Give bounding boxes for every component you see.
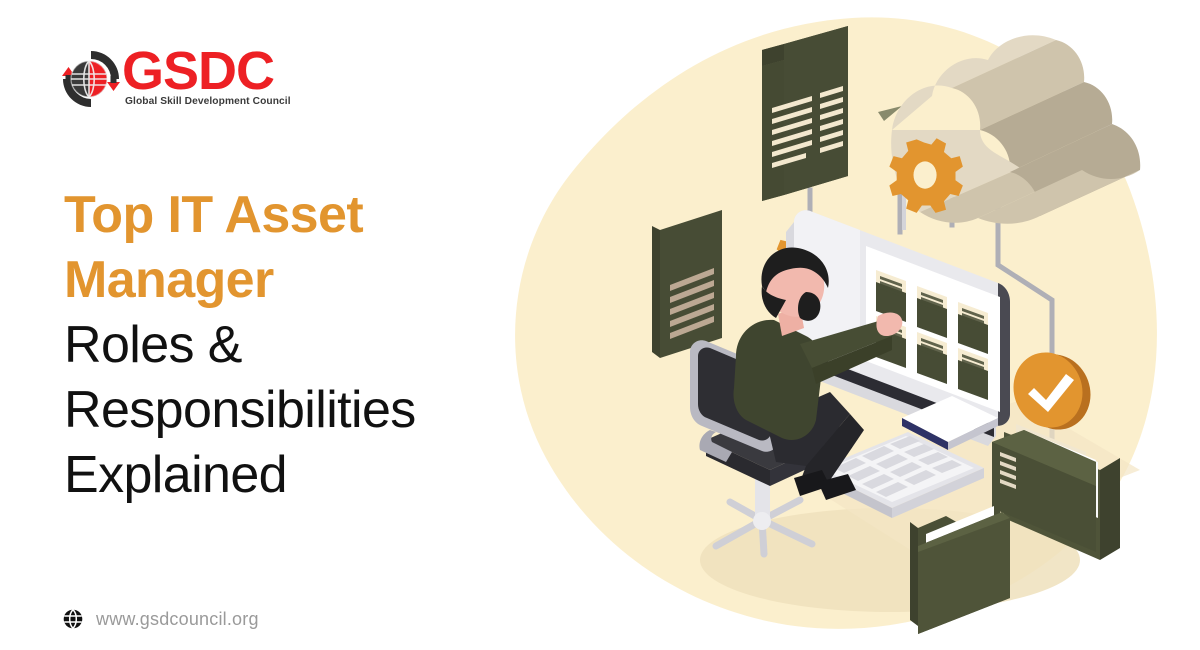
document-card-left — [652, 210, 722, 358]
globe-icon — [62, 608, 84, 630]
headline-line-1: Top IT Asset — [64, 183, 514, 248]
gsdc-tagline: Global Skill Development Council — [125, 96, 352, 107]
headline-line-5: Explained — [64, 443, 514, 508]
headline-line-4: Responsibilities — [64, 378, 514, 443]
gsdc-wordmark: GSDC Global Skill Development Council — [122, 42, 352, 120]
isometric-it-asset-illustration: Invoice — [500, 0, 1200, 650]
gsdc-logo[interactable]: GSDC Global Skill Development Council — [58, 42, 358, 128]
footer-website[interactable]: www.gsdcouncil.org — [62, 604, 259, 634]
globe-grid-icon — [58, 46, 124, 112]
headline-line-3: Roles & — [64, 313, 514, 378]
headline-line-2: Manager — [64, 248, 514, 313]
page-title: Top IT Asset Manager Roles & Responsibil… — [64, 183, 514, 508]
gsdc-wordmark-text: GSDC — [122, 42, 352, 100]
document-card-top — [762, 26, 848, 201]
website-url: www.gsdcouncil.org — [96, 609, 259, 630]
open-folder — [910, 506, 1010, 634]
banner-canvas: GSDC Global Skill Development Council To… — [0, 0, 1200, 650]
